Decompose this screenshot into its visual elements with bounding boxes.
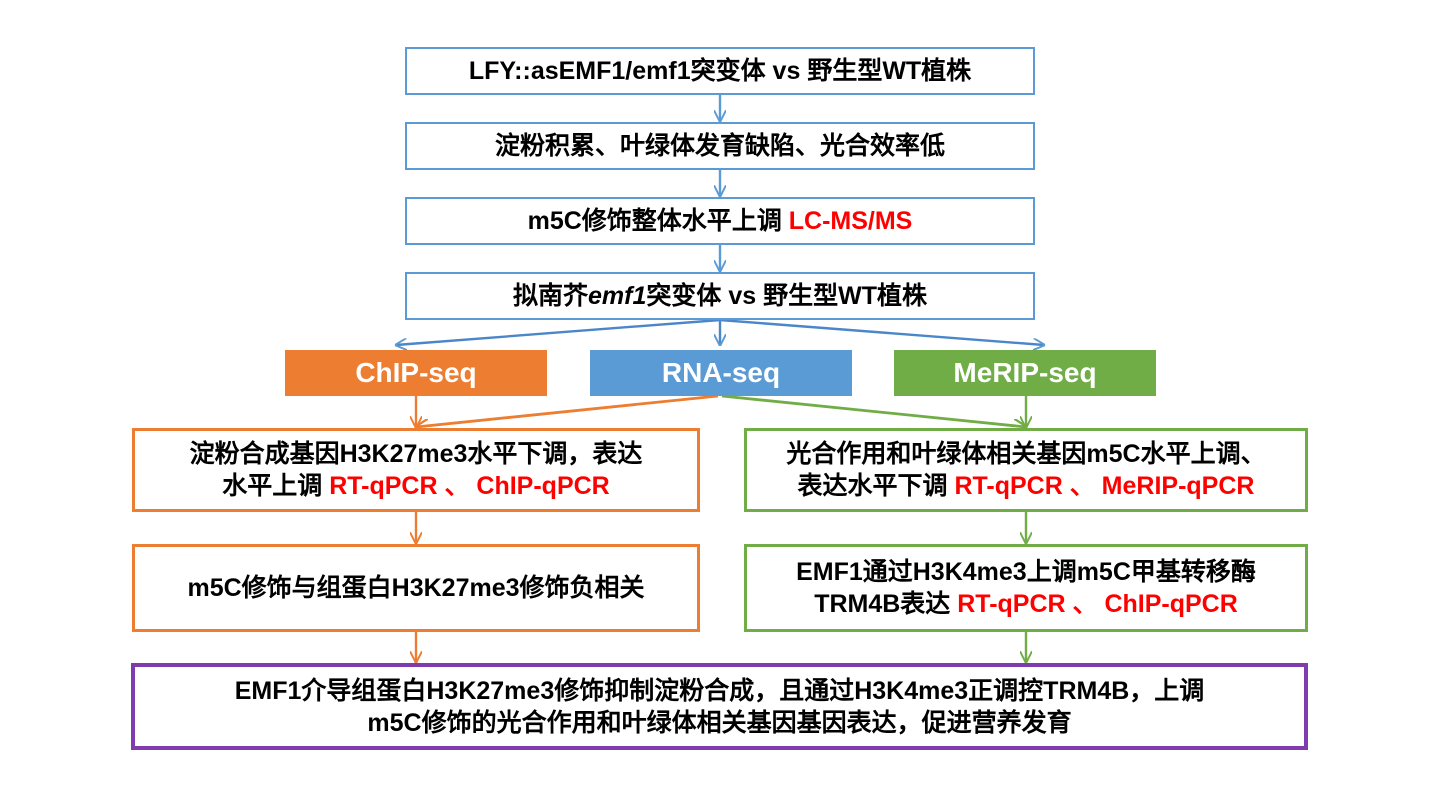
- node-rna-seq-label: RNA-seq: [656, 355, 786, 391]
- node-experiment-comparison: LFY::asEMF1/emf1突变体 vs 野生型WT植株: [405, 47, 1035, 95]
- node-arabidopsis-suffix: 突变体 vs 野生型WT植株: [646, 282, 927, 310]
- node-m5c-level-method: LC-MS/MS: [789, 207, 913, 235]
- node-photosynthesis-gene-result-line2-text: 表达水平下调: [798, 472, 955, 500]
- node-m5c-h3k27me3-correlation-label: m5C修饰与组蛋白H3K27me3修饰负相关: [181, 572, 650, 604]
- node-starch-gene-result: 淀粉合成基因H3K27me3水平下调，表达 水平上调 RT-qPCR 、 ChI…: [132, 428, 700, 512]
- node-photosynthesis-gene-result-label: 光合作用和叶绿体相关基因m5C水平上调、 表达水平下调 RT-qPCR 、 Me…: [780, 438, 1271, 502]
- node-merip-seq-label: MeRIP-seq: [947, 355, 1102, 391]
- node-chip-seq-label: ChIP-seq: [349, 355, 482, 391]
- node-conclusion-label: EMF1介导组蛋白H3K27me3修饰抑制淀粉合成，且通过H3K4me3正调控T…: [229, 675, 1211, 739]
- node-trm4b-result: EMF1通过H3K4me3上调m5C甲基转移酶 TRM4B表达 RT-qPCR …: [744, 544, 1308, 632]
- node-rna-seq[interactable]: RNA-seq: [590, 350, 852, 396]
- node-starch-gene-result-line2-methods: RT-qPCR 、 ChIP-qPCR: [329, 472, 610, 500]
- node-experiment-comparison-label: LFY::asEMF1/emf1突变体 vs 野生型WT植株: [463, 55, 977, 87]
- node-photosynthesis-gene-result: 光合作用和叶绿体相关基因m5C水平上调、 表达水平下调 RT-qPCR 、 Me…: [744, 428, 1308, 512]
- node-trm4b-result-line1: EMF1通过H3K4me3上调m5C甲基转移酶: [796, 558, 1256, 586]
- node-photosynthesis-gene-result-line2-methods: RT-qPCR 、 MeRIP-qPCR: [954, 472, 1254, 500]
- node-conclusion-line1: EMF1介导组蛋白H3K27me3修饰抑制淀粉合成，且通过H3K4me3正调控T…: [235, 677, 1205, 705]
- node-trm4b-result-label: EMF1通过H3K4me3上调m5C甲基转移酶 TRM4B表达 RT-qPCR …: [790, 556, 1262, 620]
- arrow-rnaseq-right1: [722, 396, 1026, 427]
- node-m5c-level: m5C修饰整体水平上调 LC-MS/MS: [405, 197, 1035, 245]
- node-trm4b-result-line2-text: TRM4B表达: [814, 590, 957, 618]
- node-trm4b-result-line2-methods: RT-qPCR 、 ChIP-qPCR: [957, 590, 1238, 618]
- node-chip-seq[interactable]: ChIP-seq: [285, 350, 547, 396]
- node-m5c-level-text: m5C修饰整体水平上调: [528, 207, 789, 235]
- node-starch-gene-result-label: 淀粉合成基因H3K27me3水平下调，表达 水平上调 RT-qPCR 、 ChI…: [184, 438, 649, 502]
- node-conclusion: EMF1介导组蛋白H3K27me3修饰抑制淀粉合成，且通过H3K4me3正调控T…: [131, 663, 1308, 750]
- node-arabidopsis-comparison: 拟南芥emf1突变体 vs 野生型WT植株: [405, 272, 1035, 320]
- arrow-n4-merip-seq: [720, 320, 1044, 345]
- node-arabidopsis-comparison-label: 拟南芥emf1突变体 vs 野生型WT植株: [507, 280, 933, 312]
- node-phenotype-label: 淀粉积累、叶绿体发育缺陷、光合效率低: [489, 130, 951, 162]
- diagram-canvas: LFY::asEMF1/emf1突变体 vs 野生型WT植株 淀粉积累、叶绿体发…: [0, 0, 1440, 810]
- node-arabidopsis-gene: emf1: [588, 282, 646, 310]
- node-arabidopsis-prefix: 拟南芥: [513, 282, 588, 310]
- node-starch-gene-result-line2-text: 水平上调: [222, 472, 329, 500]
- node-m5c-level-label: m5C修饰整体水平上调 LC-MS/MS: [522, 205, 919, 237]
- node-photosynthesis-gene-result-line1: 光合作用和叶绿体相关基因m5C水平上调、: [786, 440, 1265, 468]
- arrow-rnaseq-left1: [416, 396, 718, 427]
- node-merip-seq[interactable]: MeRIP-seq: [894, 350, 1156, 396]
- node-conclusion-line2: m5C修饰的光合作用和叶绿体相关基因基因表达，促进营养发育: [367, 709, 1071, 737]
- node-phenotype: 淀粉积累、叶绿体发育缺陷、光合效率低: [405, 122, 1035, 170]
- node-starch-gene-result-line1: 淀粉合成基因H3K27me3水平下调，表达: [190, 440, 643, 468]
- node-m5c-h3k27me3-correlation: m5C修饰与组蛋白H3K27me3修饰负相关: [132, 544, 700, 632]
- arrow-n4-chip-seq: [396, 320, 720, 345]
